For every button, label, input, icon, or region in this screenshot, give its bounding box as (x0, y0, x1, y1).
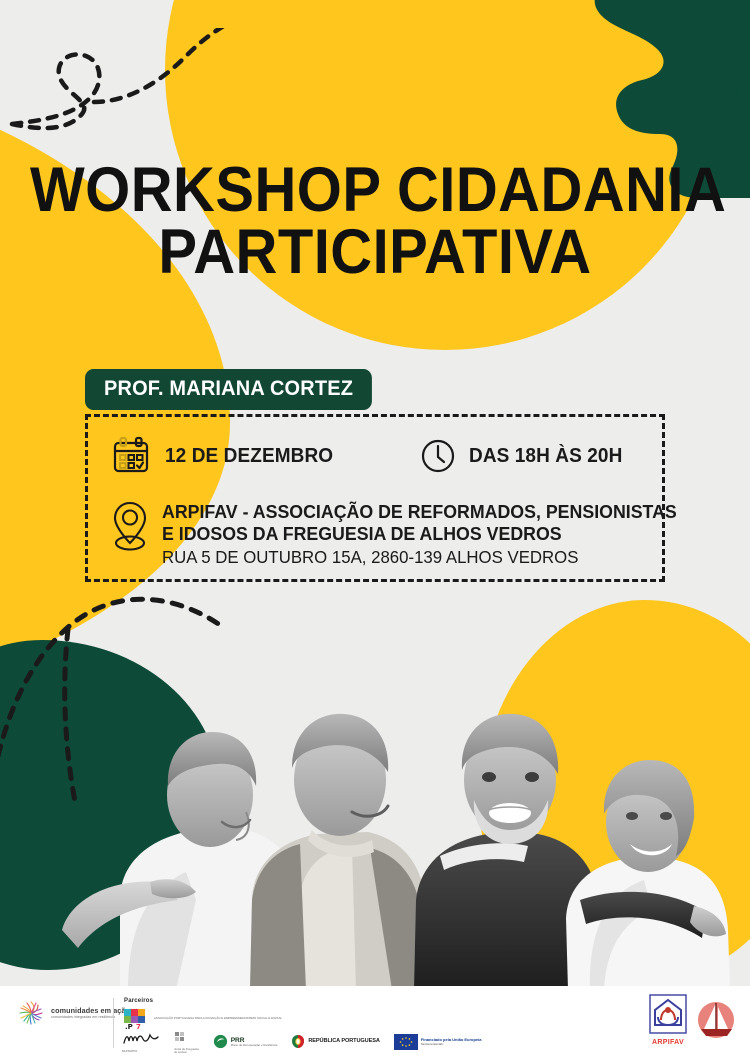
republica-text: REPÚBLICA PORTUGUESA (308, 1039, 379, 1045)
eu-funding-logo: Financiado pela União Europeia NextGener… (394, 1034, 482, 1050)
prr-text: PRR Plano de Recuperação e Resiliência (231, 1037, 278, 1047)
venue-text-block: ARPIFAV - ASSOCIAÇÃO DE REFORMADOS, PENS… (162, 499, 698, 568)
venue-address: RUA 5 DE OUTUBRO 15A, 2860-139 ALHOS VED… (162, 546, 677, 569)
location-row: ARPIFAV - ASSOCIAÇÃO DE REFORMADOS, PENS… (110, 499, 658, 568)
venue-line-1: ARPIFAV - ASSOCIAÇÃO DE REFORMADOS, PENS… (162, 501, 677, 523)
event-time: DAS 18H ÀS 20H (469, 445, 622, 468)
poster-title: WORKSHOP CIDADANIA PARTICIPATIVA (0, 160, 750, 283)
speaker-badge: PROF. MARIANA CORTEZ (85, 369, 372, 410)
house-hands-icon (649, 994, 687, 1034)
calendar-icon (110, 435, 152, 477)
prr-circle-icon (213, 1034, 228, 1049)
eu-text: Financiado pela União Europeia NextGener… (421, 1038, 482, 1046)
moita-logo: MUNICÍPIO (122, 1031, 160, 1054)
seniors-photo-illustration (0, 600, 750, 990)
venue-line-2: E IDOSOS DA FREGUESIA DE ALHOS VEDROS (162, 523, 677, 545)
portugal-shield-icon (291, 1034, 305, 1049)
a19p7-logo-icon: .P 7 (122, 1007, 148, 1031)
title-line-2: PARTICIPATIVA (30, 222, 720, 284)
poster-canvas: WORKSHOP CIDADANIA PARTICIPATIVA PROF. M… (0, 0, 750, 1060)
junta-emblem-icon (174, 1030, 190, 1043)
seniors-photo (0, 600, 750, 990)
event-details-box: 12 DE DEZEMBRO DAS 18H ÀS 20H ARPIFAV - … (85, 414, 665, 582)
republica-name: REPÚBLICA PORTUGUESA (308, 1039, 379, 1045)
partner-logo-row-2: MUNICÍPIO Junta de Freguesia de Lisboa (122, 1030, 482, 1054)
eu-flag-icon (394, 1034, 418, 1050)
date-group: 12 DE DEZEMBRO (110, 435, 342, 477)
organizer-logos: ARPIFAV (649, 994, 736, 1046)
partner-logo-row-1: .P 7 ASSOCIAÇÃO PORTUGUESA PARA A INOVAÇ… (122, 1007, 282, 1031)
brand-text: comunidades em ação comunidades integrad… (51, 1007, 130, 1019)
clock-icon (420, 438, 456, 474)
arpifav-logo: ARPIFAV (649, 994, 687, 1046)
brand-name: comunidades em ação (51, 1007, 130, 1015)
junta-freguesia-logo: Junta de Freguesia de Lisboa (174, 1030, 199, 1054)
prr-logo: PRR Plano de Recuperação e Resiliência (213, 1034, 278, 1049)
a19p7-logo-text: ASSOCIAÇÃO PORTUGUESA PARA A INOVAÇÃO E … (154, 1017, 282, 1020)
footer-bar: comunidades em ação comunidades integrad… (0, 986, 750, 1060)
brand-tagline: comunidades integradas em resiliência (51, 1015, 130, 1019)
sailboat-icon (696, 999, 736, 1041)
moita-subtitle: MUNICÍPIO (122, 1050, 160, 1053)
republica-portuguesa-logo: REPÚBLICA PORTUGUESA (291, 1034, 379, 1049)
date-time-row: 12 DE DEZEMBRO DAS 18H ÀS 20H (110, 435, 655, 477)
speaker-name: PROF. MARIANA CORTEZ (104, 377, 353, 400)
title-line-1: WORKSHOP CIDADANIA (30, 160, 720, 222)
footer-divider (113, 998, 114, 1048)
moita-signature-icon (122, 1031, 160, 1046)
dashed-loop-curve-icon (8, 28, 268, 138)
time-group: DAS 18H ÀS 20H (420, 438, 630, 474)
spiral-burst-icon (18, 1000, 44, 1026)
arpifav-label: ARPIFAV (649, 1039, 687, 1046)
map-pin-icon (110, 499, 150, 553)
a19p7-subtitle: ASSOCIAÇÃO PORTUGUESA PARA A INOVAÇÃO E … (154, 1017, 282, 1020)
junta-subtitle: de Lisboa (174, 1051, 199, 1054)
prr-subtitle: Plano de Recuperação e Resiliência (231, 1044, 278, 1047)
partners-label: Parceiros (124, 998, 153, 1004)
eu-subtitle: NextGenerationEU (421, 1043, 482, 1046)
event-date: 12 DE DEZEMBRO (165, 445, 333, 468)
